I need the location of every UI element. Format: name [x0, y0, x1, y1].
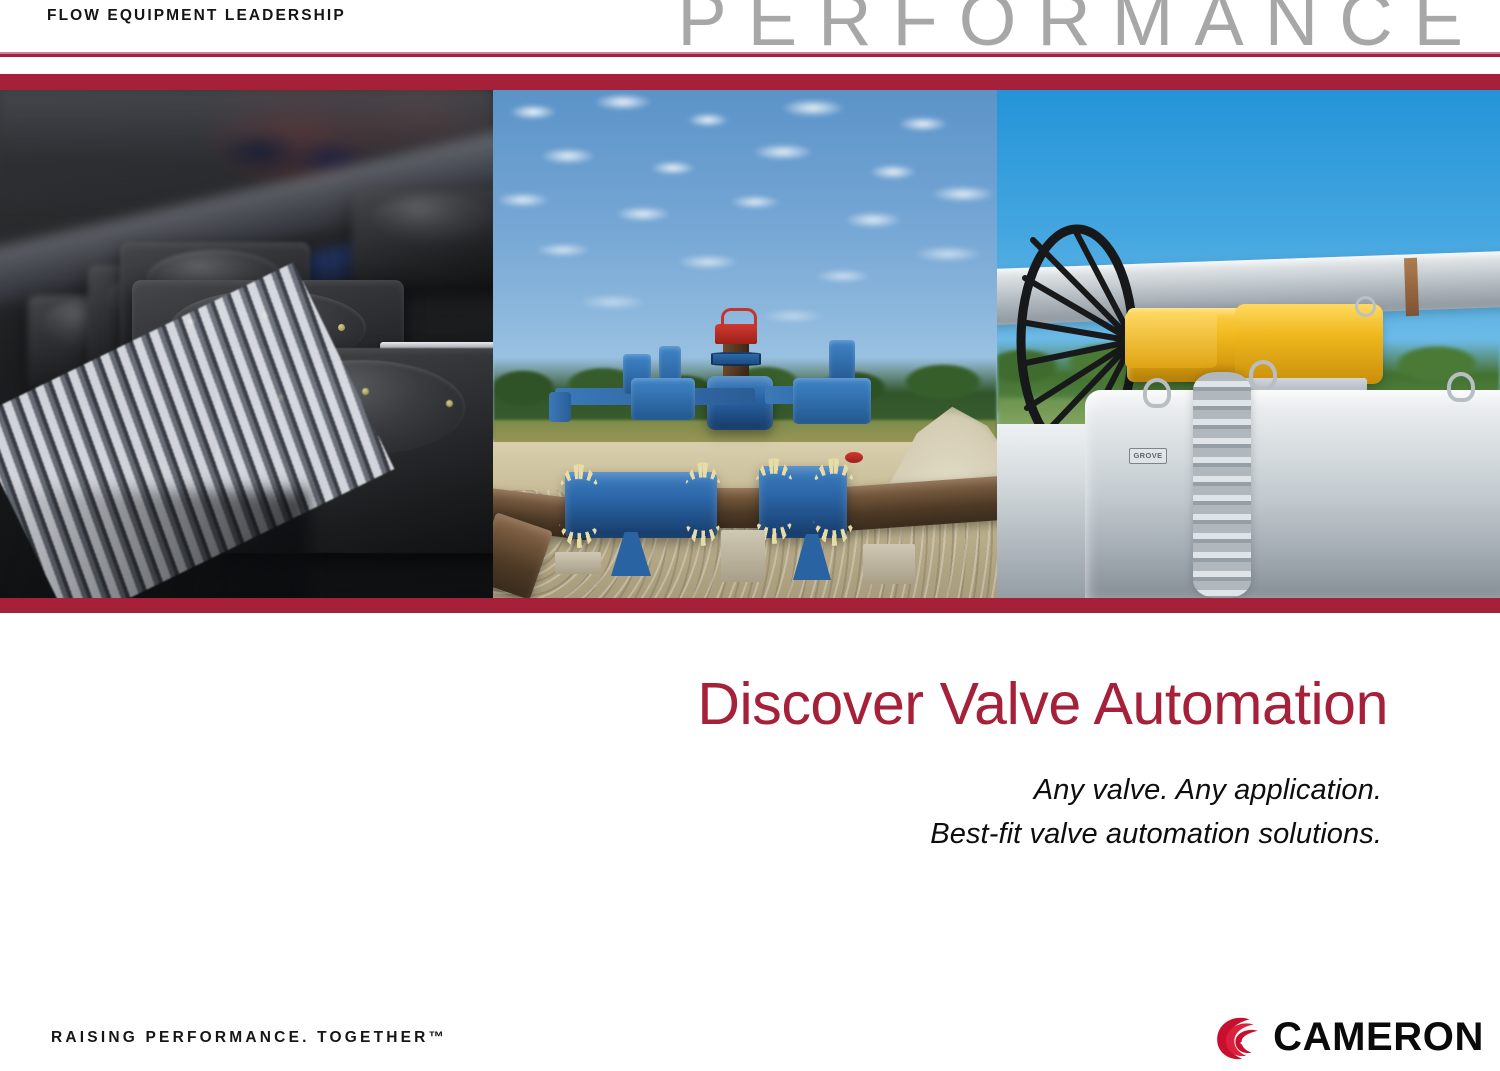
- photo3-pipe-rust-band: [1404, 258, 1419, 316]
- photo3-lifting-lug-left: [1143, 378, 1171, 408]
- header-crimson-band: [0, 74, 1500, 90]
- photo2-bolt-ring-4: [811, 458, 857, 546]
- photo2-concrete-block-1: [721, 530, 765, 582]
- subtitle-line-1: Any valve. Any application.: [0, 774, 1382, 807]
- photo3-bolted-flange: [1193, 372, 1251, 598]
- photo2-upper-flange: [711, 352, 761, 366]
- photo2-right-gearbox: [793, 378, 871, 424]
- photo2-left-stem-end: [549, 392, 571, 422]
- photo3-lifting-lug-right: [1447, 372, 1475, 402]
- photo3-eyebolt-top: [1355, 296, 1376, 317]
- photo-blue-pipeline-valves: [493, 90, 997, 598]
- cameron-wordmark: CAMERON: [1273, 1017, 1484, 1057]
- photo3-lifting-lug-mid: [1249, 360, 1277, 390]
- photo2-red-handle: [721, 308, 757, 327]
- cameron-logo: CAMERON: [1212, 1008, 1484, 1066]
- photo2-red-valve-knob: [845, 452, 863, 463]
- photo3-gear-nose: [1125, 312, 1217, 368]
- photo2-bolt-ring-1: [557, 464, 601, 548]
- main-content: Discover Valve Automation Any valve. Any…: [0, 613, 1500, 1071]
- header-eyebrow-text: FLOW EQUIPMENT LEADERSHIP: [47, 7, 346, 25]
- photo1-chain-shadow: [0, 490, 310, 598]
- photo1-actuator-far-right: [352, 190, 493, 286]
- photo2-left-gearbox: [631, 378, 695, 420]
- photo-valve-actuator-production-line: [0, 90, 493, 598]
- hero-photo-strip: GROVE: [0, 90, 1500, 598]
- photo-grove-valve-handwheel: GROVE: [997, 90, 1500, 598]
- performance-watermark-text: PERFORMANCE: [677, 0, 1484, 56]
- photo2-concrete-block-3: [555, 552, 601, 574]
- photo2-red-cap: [715, 324, 757, 344]
- photo2-bolt-ring-2: [683, 462, 723, 546]
- subtitle-line-2: Best-fit valve automation solutions.: [0, 818, 1382, 851]
- page-title: Discover Valve Automation: [0, 670, 1388, 738]
- actuator-bolt: [446, 400, 453, 407]
- header-white-gap: [0, 57, 1500, 74]
- actuator-bolt: [362, 388, 369, 395]
- cameron-swirl-icon: [1212, 1011, 1264, 1063]
- photo2-concrete-block-2: [863, 544, 915, 584]
- actuator-cap: [374, 196, 489, 240]
- page-header: FLOW EQUIPMENT LEADERSHIP PERFORMANCE: [0, 0, 1500, 56]
- footer-tagline: RAISING PERFORMANCE. TOGETHER™: [51, 1029, 447, 1047]
- actuator-bolt: [338, 324, 345, 331]
- photo3-valve-body: [1085, 390, 1500, 598]
- photo3-grove-nameplate: GROVE: [1129, 448, 1167, 464]
- hero-bottom-crimson-band: [0, 598, 1500, 613]
